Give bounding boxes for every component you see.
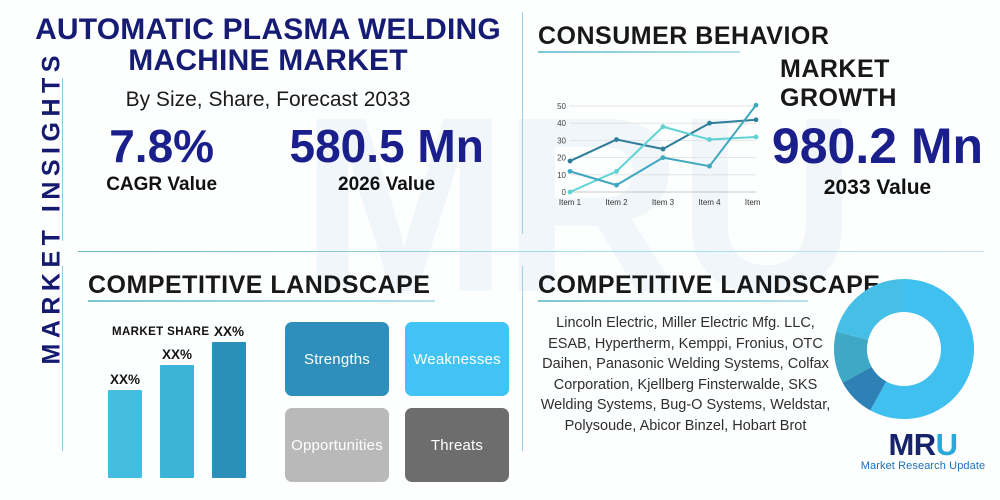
kpi-row: 7.8% CAGR Value 580.5 Mn 2026 Value [70,120,520,196]
kpi-2026: 580.5 Mn 2026 Value [289,120,483,196]
swot-box-threats[interactable]: Threats [405,408,509,482]
svg-text:20: 20 [557,154,566,163]
kpi-2026-label: 2026 Value [289,174,483,196]
kpi-cagr-value: 7.8% [106,120,217,172]
mru-logo: MRU Market Research Update [857,428,989,472]
page-title: AUTOMATIC PLASMA WELDING MACHINE MARKET [18,14,518,76]
consumer-behavior-underline [538,51,740,53]
competitive-landscape-left-underline [88,300,435,302]
swot-box-opportunities[interactable]: Opportunities [285,408,389,482]
infographic-page: MRU MARKET INSIGHTS AUTOMATIC PLASMA WEL… [0,0,1000,500]
svg-text:10: 10 [557,171,566,180]
swot-box-strengths[interactable]: Strengths [285,322,389,396]
competitive-landscape-left-heading: COMPETITIVE LANDSCAPE [88,271,430,300]
logo-mark: MRU [888,428,957,461]
market-share-bar-rect [160,365,194,478]
svg-text:0: 0 [562,188,567,197]
market-segments-donut-chart [833,278,975,420]
page-subtitle: By Size, Share, Forecast 2033 [18,88,518,112]
swot-grid: StrengthsWeaknessesOpportunitiesThreats [285,322,509,482]
kpi-2033-label: 2033 Value [770,176,985,200]
market-share-bar-label: XX% [160,347,194,362]
svg-text:30: 30 [557,136,566,145]
svg-text:Item 5: Item 5 [745,198,760,207]
market-share-bar: XX% [108,372,142,478]
kpi-cagr: 7.8% CAGR Value [106,120,217,196]
horizontal-divider [78,251,984,252]
kpi-2026-value: 580.5 Mn [289,120,483,172]
market-growth-heading: MARKET GROWTH [780,55,1000,113]
kpi-cagr-label: CAGR Value [106,174,217,196]
consumer-behavior-heading: CONSUMER BEHAVIOR [538,22,829,51]
competitive-landscape-right-underline [538,300,808,302]
svg-text:50: 50 [557,102,566,111]
consumer-behavior-line-chart: 01020304050Item 1Item 2Item 3Item 4Item … [548,100,760,212]
vertical-divider-bottom [522,266,523,451]
competitive-landscape-right-heading: COMPETITIVE LANDSCAPE [538,271,880,300]
market-share-bar-rect [108,390,142,478]
market-share-bar-chart: XX%XX%XX% [108,340,273,478]
svg-text:Item 1: Item 1 [559,198,582,207]
swot-box-weaknesses[interactable]: Weaknesses [405,322,509,396]
svg-text:40: 40 [557,119,566,128]
svg-text:Item 2: Item 2 [605,198,628,207]
market-share-bar: XX% [212,324,246,478]
market-share-bar-rect [212,342,246,478]
company-list: Lincoln Electric, Miller Electric Mfg. L… [538,313,833,436]
rail-divider-bottom [62,266,63,451]
market-share-bar-label: XX% [108,372,142,387]
logo-mark-dark: MR [888,427,935,462]
market-share-bar: XX% [160,347,194,478]
kpi-2033: 980.2 Mn 2033 Value [770,118,985,200]
svg-text:Item 3: Item 3 [652,198,675,207]
market-share-bar-label: XX% [212,324,246,339]
donut-segment [836,279,904,340]
svg-text:Item 4: Item 4 [698,198,721,207]
kpi-2033-value: 980.2 Mn [770,118,985,174]
vertical-divider-top [522,12,523,234]
logo-mark-accent: U [936,427,958,462]
market-share-title: MARKET SHARE [112,326,209,338]
